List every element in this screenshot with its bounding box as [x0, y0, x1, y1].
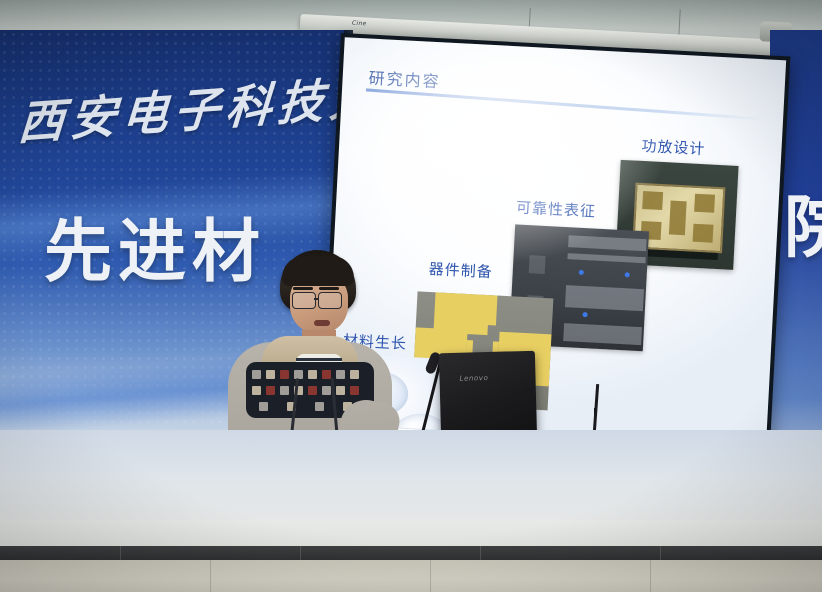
slide-title-rule: [366, 88, 763, 120]
label-reliability: 可靠性表征: [516, 196, 597, 221]
presenter-fringe: [282, 256, 354, 286]
glasses-lens-right: [318, 292, 342, 309]
presenter-brow-right: [319, 287, 339, 290]
glasses-bridge: [314, 298, 319, 300]
lecture-hall-photo: Cine 院 西安电子科技大学 先进材 研究内容 功放设计: [0, 0, 822, 592]
label-device-fabrication: 器件制备: [428, 258, 493, 282]
roller-brand-label: Cine: [352, 20, 367, 28]
label-power-amplifier: 功放设计: [641, 135, 706, 159]
floor: [0, 560, 822, 592]
slide-title: 研究内容: [368, 65, 441, 93]
presenter-mouth: [314, 320, 330, 326]
laptop-lid: Lenovo: [439, 351, 537, 441]
banner-headline-right: 院: [784, 172, 822, 271]
glasses-lens-left: [292, 292, 316, 309]
laptop-brand-label: Lenovo: [459, 374, 488, 383]
presenter-brow-left: [293, 287, 313, 290]
